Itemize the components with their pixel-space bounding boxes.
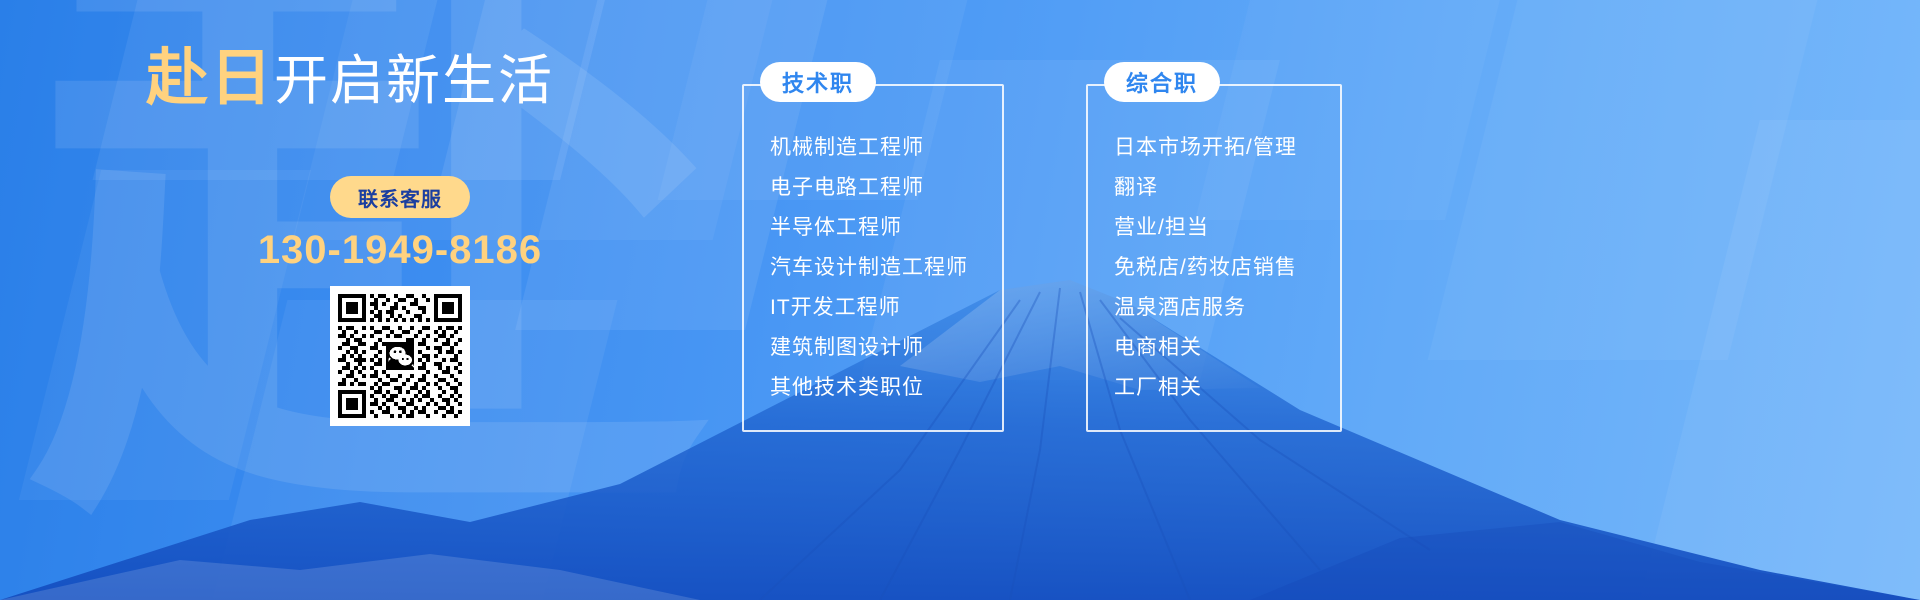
qr-code-icon xyxy=(338,294,462,418)
list-item[interactable]: 营业/担当 xyxy=(1114,208,1297,248)
list-item[interactable]: 免税店/药妆店销售 xyxy=(1114,248,1297,288)
list-item[interactable]: 电子电路工程师 xyxy=(770,168,968,208)
panel-badge-general[interactable]: 综合职 xyxy=(1104,62,1220,102)
wechat-qr-code[interactable] xyxy=(330,286,470,426)
list-item[interactable]: 翻译 xyxy=(1114,168,1297,208)
list-item[interactable]: 其他技术类职位 xyxy=(770,368,968,408)
phone-number[interactable]: 130-1949-8186 xyxy=(0,228,800,273)
list-item[interactable]: 温泉酒店服务 xyxy=(1114,288,1297,328)
promo-banner: 赴 xyxy=(0,0,1920,600)
list-item[interactable]: 日本市场开拓/管理 xyxy=(1114,128,1297,168)
job-list-technical: 机械制造工程师 电子电路工程师 半导体工程师 汽车设计制造工程师 IT开发工程师… xyxy=(770,128,968,408)
list-item[interactable]: 汽车设计制造工程师 xyxy=(770,248,968,288)
panel-badge-technical[interactable]: 技术职 xyxy=(760,62,876,102)
headline-white-text: 开启新生活 xyxy=(274,51,554,111)
list-item[interactable]: 电商相关 xyxy=(1114,328,1297,368)
decorative-slab xyxy=(1428,0,1833,360)
left-content-column: 赴日开启新生活 联系客服 130-1949-8186 xyxy=(0,0,700,600)
page-title: 赴日开启新生活 xyxy=(0,48,700,110)
list-item[interactable]: 工厂相关 xyxy=(1114,368,1297,408)
headline-gold-text: 赴日 xyxy=(146,44,274,113)
list-item[interactable]: 建筑制图设计师 xyxy=(770,328,968,368)
contact-support-button[interactable]: 联系客服 xyxy=(330,176,470,218)
list-item[interactable]: IT开发工程师 xyxy=(770,288,968,328)
list-item[interactable]: 半导体工程师 xyxy=(770,208,968,248)
job-list-general: 日本市场开拓/管理 翻译 营业/担当 免税店/药妆店销售 温泉酒店服务 电商相关… xyxy=(1114,128,1297,408)
decorative-slab xyxy=(1640,120,1920,600)
list-item[interactable]: 机械制造工程师 xyxy=(770,128,968,168)
